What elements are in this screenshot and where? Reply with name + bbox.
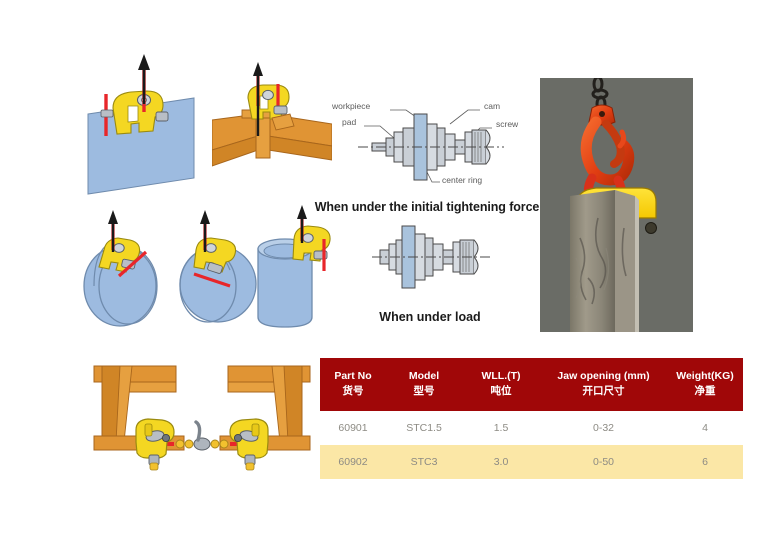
product-sheet-page: workpiece pad cam screw center ring When… [0, 0, 760, 548]
column-header-part-no-cn: 货号 [322, 384, 384, 399]
column-header-weight: Weight(KG) 净重 [667, 358, 743, 411]
column-header-part-no: Part No 货号 [320, 358, 386, 411]
caption-initial-tightening-force: When under the initial tightening force [314, 200, 540, 214]
cell-weight: 6 [667, 445, 743, 479]
column-header-model-en: Model [409, 370, 439, 382]
column-header-weight-en: Weight(KG) [676, 370, 734, 382]
label-cam: cam [484, 101, 500, 111]
column-header-model: Model 型号 [386, 358, 462, 411]
column-header-weight-cn: 净重 [669, 384, 741, 399]
caption-under-load: When under load [330, 310, 530, 324]
diagram-clamp-cross-section-load [372, 222, 497, 292]
cell-jaw-opening: 0-50 [540, 445, 667, 479]
illustration-beam-lift [212, 62, 332, 192]
diagram-clamp-cross-section-initial: workpiece pad cam screw center ring [328, 88, 540, 196]
cell-wll: 1.5 [462, 411, 540, 445]
illustration-ibeam-pair [88, 358, 316, 498]
cell-wll: 3.0 [462, 445, 540, 479]
column-header-jaw-opening-en: Jaw opening (mm) [557, 370, 649, 382]
column-header-wll-cn: 吨位 [464, 384, 538, 399]
table-row: 60901 STC1.5 1.5 0-32 4 [320, 411, 743, 445]
label-pad: pad [342, 117, 356, 127]
table-header-row: Part No 货号 Model 型号 WLL.(T) 吨位 Jaw openi… [320, 358, 743, 411]
label-workpiece: workpiece [332, 101, 370, 111]
cell-part-no: 60902 [320, 445, 386, 479]
label-center-ring: center ring [442, 175, 482, 185]
label-screw: screw [496, 119, 518, 129]
column-header-jaw-opening: Jaw opening (mm) 开口尺寸 [540, 358, 667, 411]
cell-weight: 4 [667, 411, 743, 445]
table-row: 60902 STC3 3.0 0-50 6 [320, 445, 743, 479]
column-header-wll-en: WLL.(T) [481, 370, 520, 382]
cell-model: STC1.5 [386, 411, 462, 445]
cell-model: STC3 [386, 445, 462, 479]
cell-jaw-opening: 0-32 [540, 411, 667, 445]
column-header-part-no-en: Part No [334, 370, 371, 382]
cell-part-no: 60901 [320, 411, 386, 445]
illustration-plate-lift [72, 52, 222, 202]
illustration-cylinder-lift-upright [252, 205, 337, 333]
column-header-jaw-opening-cn: 开口尺寸 [542, 384, 665, 399]
column-header-model-cn: 型号 [388, 384, 460, 399]
product-photo-clamp-on-plate [540, 78, 693, 332]
column-header-wll: WLL.(T) 吨位 [462, 358, 540, 411]
specification-table: Part No 货号 Model 型号 WLL.(T) 吨位 Jaw openi… [320, 358, 743, 479]
